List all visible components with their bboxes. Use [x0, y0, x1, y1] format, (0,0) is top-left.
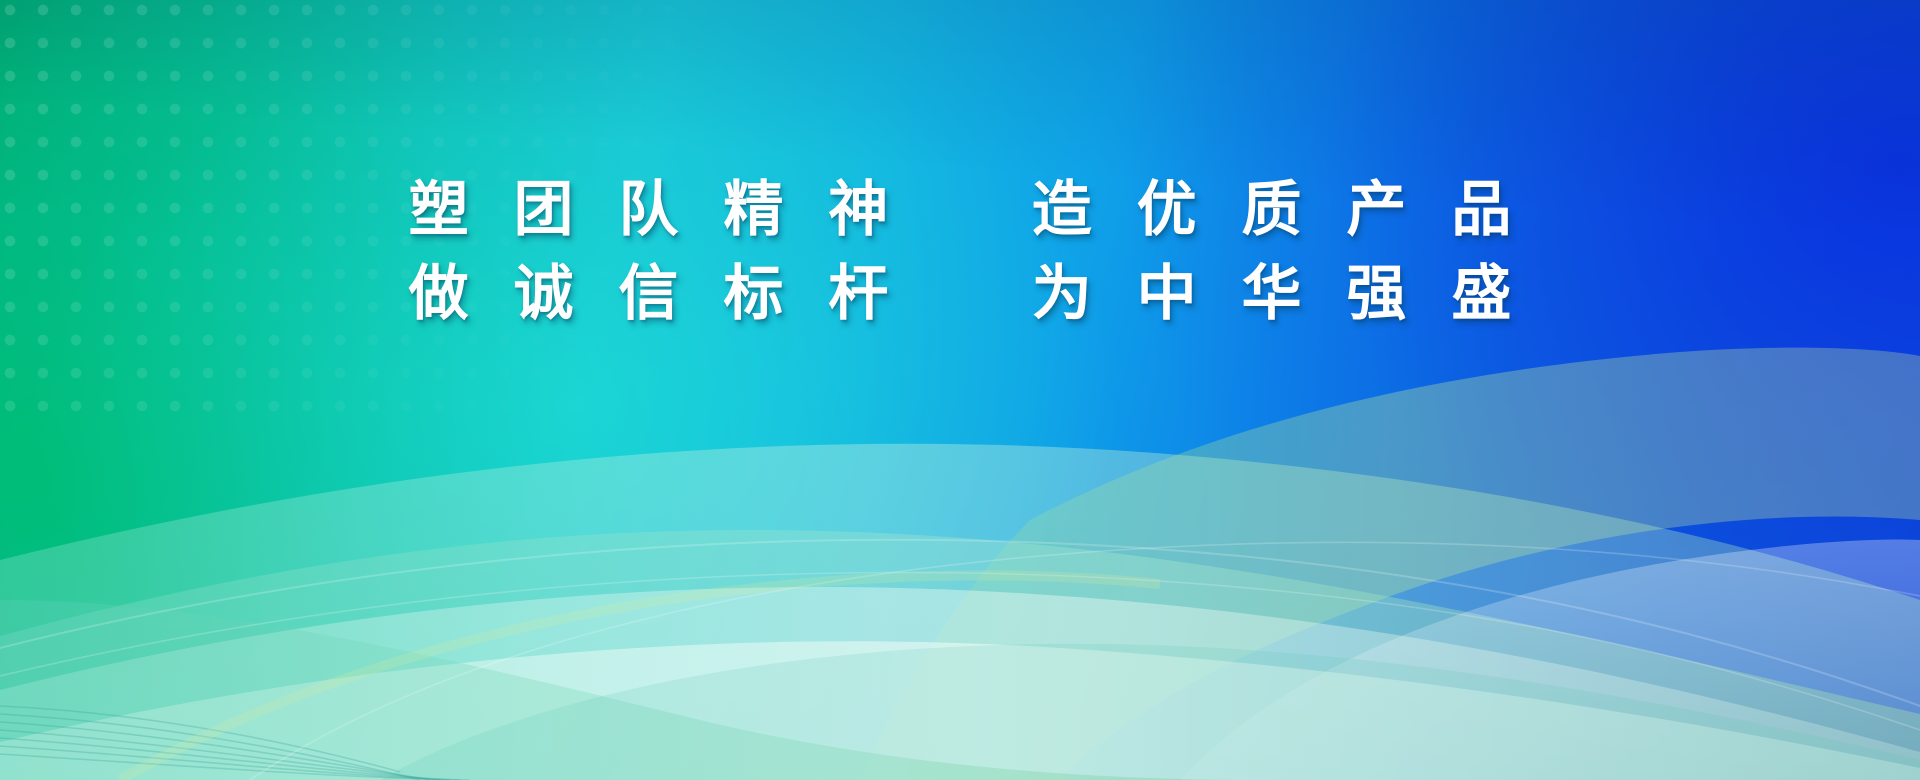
corporate-slogan-banner: 塑 团 队 精 神 造 优 质 产 品 做 诚 信 标 杆 为 中 华 强 盛 — [0, 0, 1920, 780]
flowing-ribbon-waves — [0, 0, 1920, 780]
